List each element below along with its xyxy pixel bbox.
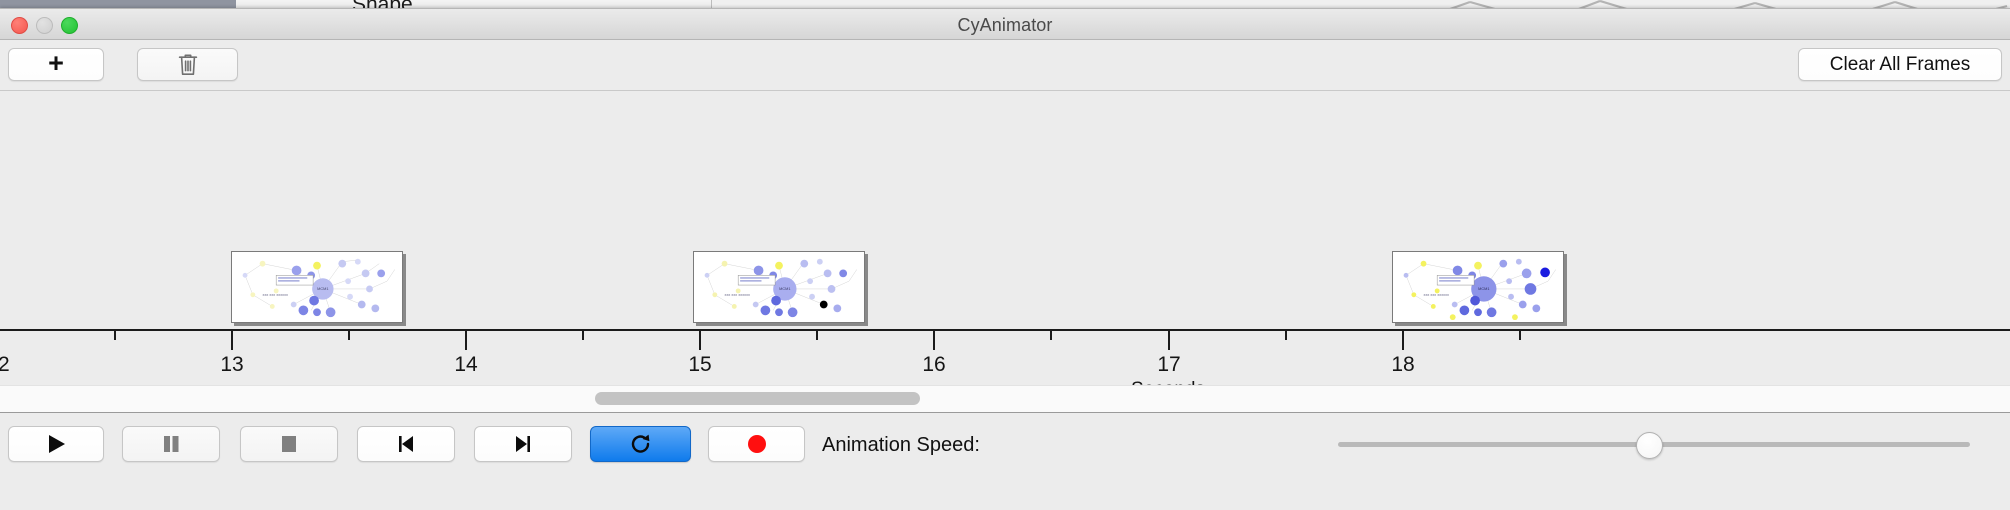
play-button[interactable] — [8, 426, 104, 462]
axis-tick-minor — [816, 331, 818, 340]
plus-icon: + — [48, 50, 64, 77]
clear-all-frames-label: Clear All Frames — [1830, 54, 1970, 76]
axis-tick-major — [933, 331, 935, 350]
axis-tick-major — [1402, 331, 1404, 350]
svg-text:MCM1: MCM1 — [779, 286, 790, 291]
skip-back-icon — [395, 433, 417, 455]
axis-tick-minor — [1519, 331, 1521, 340]
frames-toolbar: + Clear All Frames — [0, 40, 2010, 91]
svg-text:xxx xxx xxxxxx: xxx xxx xxxxxx — [263, 292, 288, 297]
svg-text:xxx xxx xxxxxx: xxx xxx xxxxxx — [725, 292, 750, 297]
svg-text:xxx xxx xxxxxx: xxx xxx xxxxxx — [1424, 292, 1449, 297]
network-thumbnail-graph: MCM1 xxx xxx xxxxxx — [1393, 252, 1563, 322]
network-thumbnail-graph: MCM1 xxx xxx xxxxxx — [232, 252, 402, 322]
svg-text:MCM1: MCM1 — [1478, 286, 1489, 291]
frame-thumbnail-1[interactable]: MCM1 xxx xxx xxxxxx — [231, 251, 403, 323]
animation-speed-label: Animation Speed: — [822, 434, 980, 457]
timeline-horizontal-scrollbar[interactable] — [0, 385, 2010, 413]
cyanimator-screen: Shape CyAnimator + — [0, 0, 2010, 510]
play-icon — [45, 433, 67, 455]
window-titlebar: CyAnimator — [0, 9, 2010, 40]
axis-tick-minor — [582, 331, 584, 340]
clear-all-frames-button[interactable]: Clear All Frames — [1798, 48, 2002, 81]
timeline-panel[interactable]: MCM1 xxx xxx xxxxxx — [0, 91, 2010, 413]
record-icon — [746, 433, 768, 455]
axis-tick-label: 14 — [454, 353, 477, 377]
record-button[interactable] — [708, 426, 805, 462]
window-title: CyAnimator — [0, 15, 2010, 36]
axis-tick-major — [1168, 331, 1170, 350]
axis-tick-minor — [1285, 331, 1287, 340]
skip-to-start-button[interactable] — [357, 426, 455, 462]
cyanimator-window: CyAnimator + — [0, 8, 2010, 510]
axis-tick-label: 13 — [220, 353, 243, 377]
axis-tick-label: 16 — [922, 353, 945, 377]
network-thumbnail-graph: MCM1 xxx xxx xxxxxx — [694, 252, 864, 322]
animation-speed-slider-thumb[interactable] — [1636, 432, 1663, 459]
axis-tick-label: 12 — [0, 353, 10, 377]
loop-button[interactable] — [590, 426, 691, 462]
axis-tick-label: 17 — [1157, 353, 1180, 377]
delete-frame-button[interactable] — [137, 48, 238, 81]
frame-thumbnail-3[interactable]: MCM1 xxx xxx xxxxxx — [1392, 251, 1564, 323]
axis-tick-minor — [348, 331, 350, 340]
skip-forward-icon — [512, 433, 534, 455]
axis-tick-minor — [114, 331, 116, 340]
axis-tick-major — [231, 331, 233, 350]
axis-tick-label: 18 — [1391, 353, 1414, 377]
pause-icon — [160, 433, 182, 455]
axis-tick-minor — [1050, 331, 1052, 340]
skip-to-end-button[interactable] — [474, 426, 572, 462]
stop-icon — [278, 433, 300, 455]
playback-toolbar: Animation Speed: — [0, 413, 2010, 479]
add-frame-button[interactable]: + — [8, 48, 104, 81]
axis-tick-major — [699, 331, 701, 350]
loop-icon — [629, 432, 653, 456]
axis-tick-label: 15 — [688, 353, 711, 377]
svg-text:MCM1: MCM1 — [317, 286, 328, 291]
stop-button[interactable] — [240, 426, 338, 462]
timeline-scrollbar-thumb[interactable] — [595, 392, 920, 405]
trash-icon — [178, 53, 198, 77]
frame-thumbnail-2[interactable]: MCM1 xxx xxx xxxxxx — [693, 251, 865, 323]
axis-tick-major — [465, 331, 467, 350]
pause-button[interactable] — [122, 426, 220, 462]
timeline-axis-line — [0, 329, 2010, 331]
